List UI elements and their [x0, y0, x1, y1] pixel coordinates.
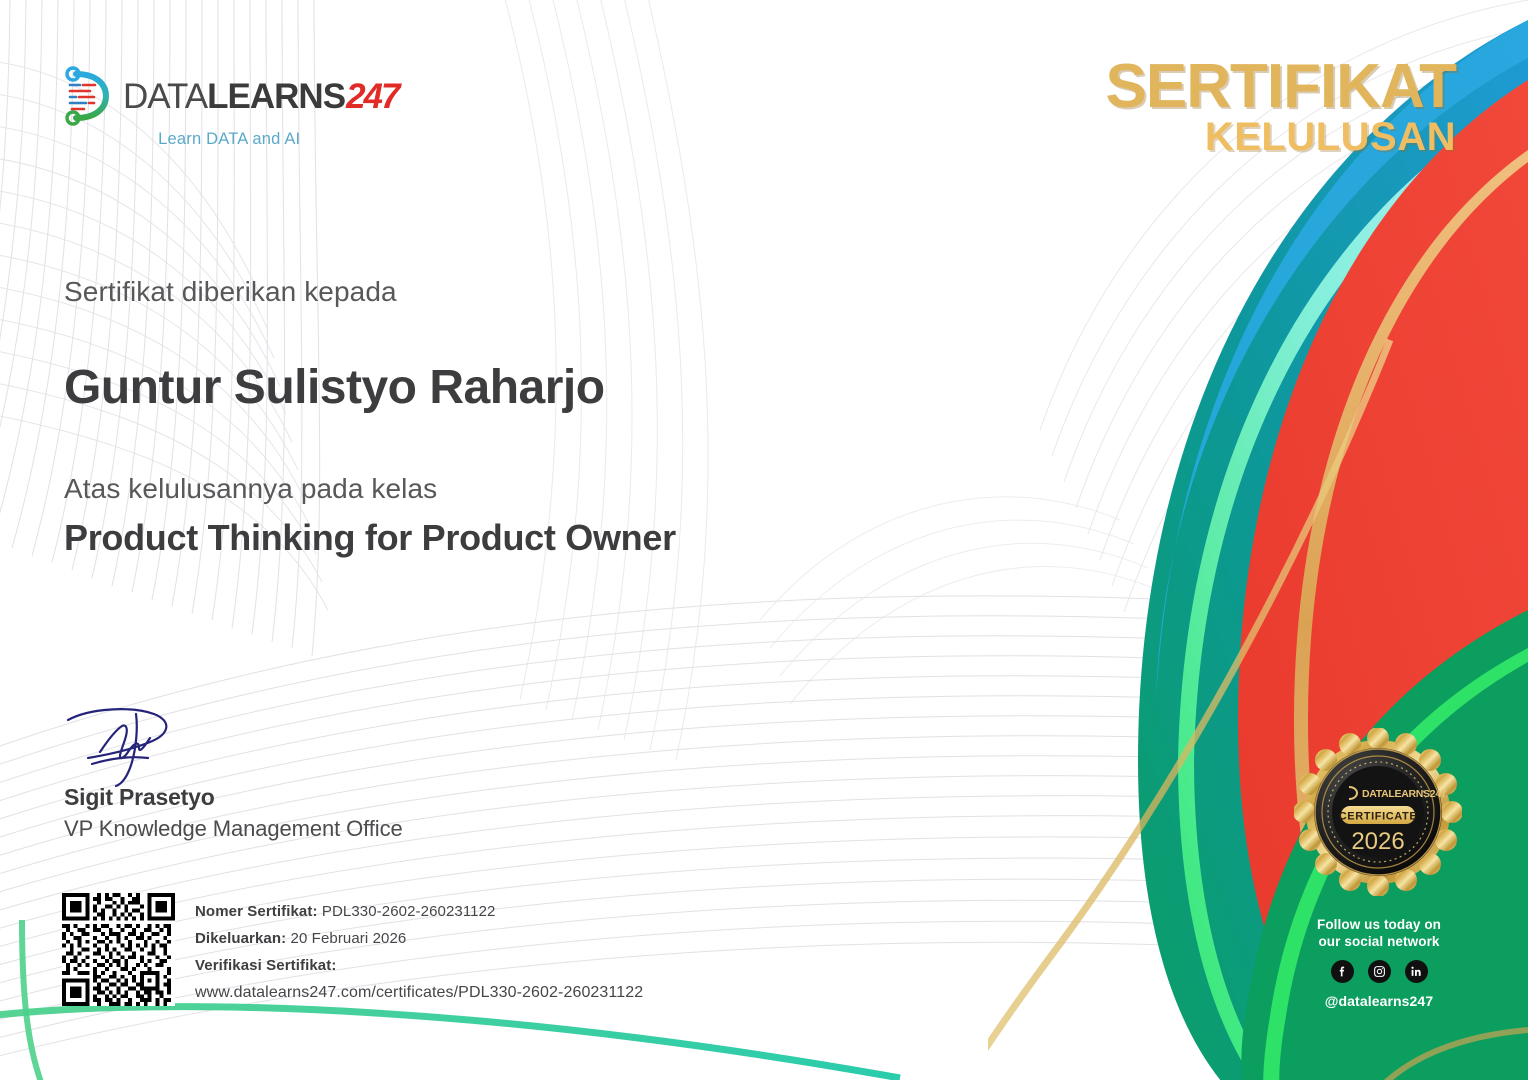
recipient-name: Guntur Sulistyo Raharjo — [64, 360, 676, 415]
seal-ribbon-text: CERTIFICATE — [1339, 811, 1418, 823]
social-title: Follow us today on our social network — [1300, 917, 1458, 951]
signer-role: VP Knowledge Management Office — [64, 816, 403, 842]
social-handle: @datalearns247 — [1300, 993, 1458, 1009]
certificate-title-main: SERTIFIKAT — [1106, 58, 1457, 115]
certificate-seal: DATALEARNS247 CERTIFICATE 2026 — [1294, 728, 1462, 896]
wordmark-247: 247 — [346, 79, 398, 114]
issued-label: Dikeluarkan: — [195, 930, 286, 947]
certificate-title-block: SERTIFIKAT KELULUSAN — [1106, 58, 1457, 157]
certificate-page: DATALEARNS247 Learn DATA and AI SERTIFIK… — [0, 0, 1528, 1080]
verify-row: Verifikasi Sertifikat: — [195, 957, 643, 974]
verify-label: Verifikasi Sertifikat: — [195, 957, 336, 974]
wordmark-data: DATA — [123, 79, 207, 114]
social-block: Follow us today on our social network — [1300, 917, 1458, 1009]
facebook-icon[interactable] — [1331, 960, 1354, 983]
brand-tagline: Learn DATA and AI — [158, 130, 300, 149]
qr-code-icon[interactable] — [62, 893, 175, 1006]
certificate-title-sub: KELULUSAN — [1106, 117, 1457, 157]
cert-number-row: Nomer Sertifikat: PDL330-2602-260231122 — [195, 903, 643, 920]
verify-url-link[interactable]: www.datalearns247.com/certificates/PDL33… — [195, 984, 643, 1002]
awarded-to-label: Sertifikat diberikan kepada — [64, 276, 676, 308]
datalearns-d-icon — [60, 66, 114, 126]
certificate-details: Nomer Sertifikat: PDL330-2602-260231122 … — [62, 893, 643, 1006]
issued-value: 20 Februari 2026 — [291, 930, 407, 947]
social-title-line1: Follow us today on — [1300, 917, 1458, 934]
course-name: Product Thinking for Product Owner — [64, 517, 676, 559]
cert-number-value: PDL330-2602-260231122 — [322, 903, 496, 920]
brand-logo: DATALEARNS247 Learn DATA and AI — [60, 66, 398, 149]
seal-year: 2026 — [1351, 828, 1404, 855]
brand-wordmark: DATALEARNS247 — [123, 79, 398, 114]
social-icons — [1300, 960, 1458, 983]
instagram-icon[interactable] — [1368, 960, 1391, 983]
seal-brand-text: DATALEARNS247 — [1362, 788, 1447, 800]
handwritten-signature-icon — [62, 700, 262, 790]
course-label: Atas kelulusannya pada kelas — [64, 473, 676, 505]
issued-row: Dikeluarkan: 20 Februari 2026 — [195, 930, 643, 947]
wordmark-learns: LEARNS — [207, 79, 345, 114]
linkedin-icon[interactable] — [1405, 960, 1428, 983]
cert-number-label: Nomer Sertifikat: — [195, 903, 318, 920]
social-title-line2: our social network — [1300, 934, 1458, 951]
signature-block: Sigit Prasetyo VP Knowledge Management O… — [64, 700, 403, 842]
certificate-body: Sertifikat diberikan kepada Guntur Sulis… — [64, 276, 676, 559]
signer-name: Sigit Prasetyo — [64, 784, 403, 811]
